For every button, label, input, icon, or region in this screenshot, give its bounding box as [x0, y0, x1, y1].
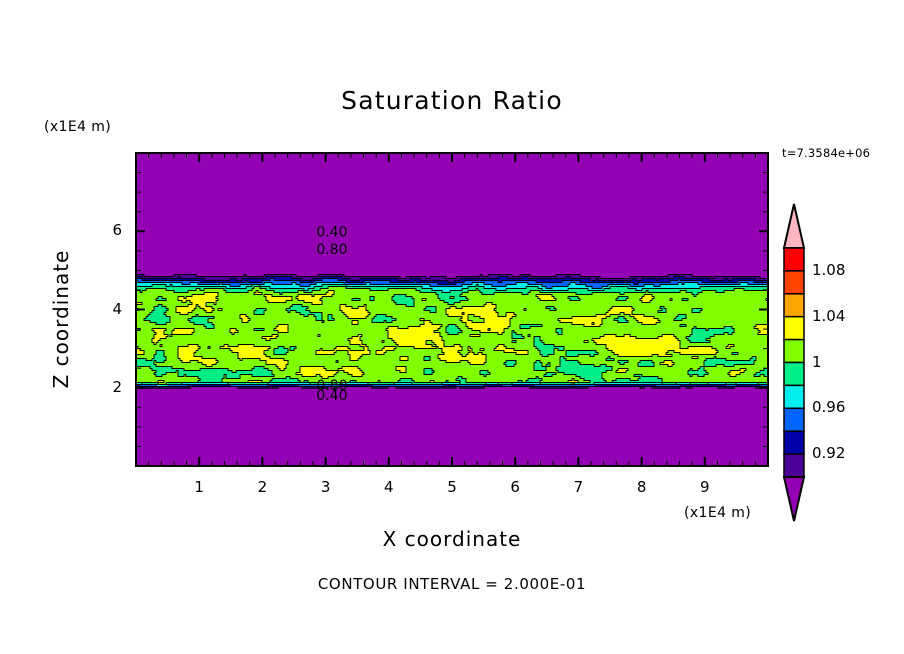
contour-label: 0.40 [316, 224, 347, 240]
colorbar-band [784, 271, 804, 294]
colorbar-band [784, 294, 804, 317]
colorbar-tick-label: 1.04 [812, 307, 845, 325]
colorbar-band [784, 248, 804, 271]
x-tick-label: 3 [311, 478, 341, 496]
y-tick-label: 6 [92, 221, 122, 239]
x-tick-label: 8 [627, 478, 657, 496]
colorbar-cap-top [784, 204, 804, 248]
y-tick-label: 2 [92, 378, 122, 396]
x-tick-label: 9 [690, 478, 720, 496]
colorbar-band [784, 385, 804, 408]
contour-plot: 0.400.800.800.40 [0, 0, 904, 654]
contour-label: 0.40 [316, 388, 347, 404]
x-tick-label: 2 [247, 478, 277, 496]
x-tick-label: 1 [184, 478, 214, 496]
colorbar [784, 204, 804, 521]
colorbar-band [784, 363, 804, 386]
colorbar-tick-label: 0.92 [812, 444, 845, 462]
colorbar-tick-label: 1.08 [812, 261, 845, 279]
colorbar-band [784, 408, 804, 431]
contour-label: 0.80 [316, 242, 347, 258]
x-tick-label: 7 [563, 478, 593, 496]
colorbar-band [784, 340, 804, 363]
colorbar-band [784, 454, 804, 477]
colorbar-tick-label: 1 [812, 353, 822, 371]
x-tick-label: 5 [437, 478, 467, 496]
figure-root: Saturation Ratio (x1E4 m) t=7.3584e+06 (… [0, 0, 904, 654]
colorbar-band [784, 431, 804, 454]
x-tick-label: 6 [500, 478, 530, 496]
x-tick-label: 4 [374, 478, 404, 496]
y-tick-label: 4 [92, 300, 122, 318]
colorbar-cap-bottom [784, 477, 804, 521]
field-layer [136, 153, 769, 466]
colorbar-band [784, 317, 804, 340]
colorbar-tick-label: 0.96 [812, 398, 845, 416]
